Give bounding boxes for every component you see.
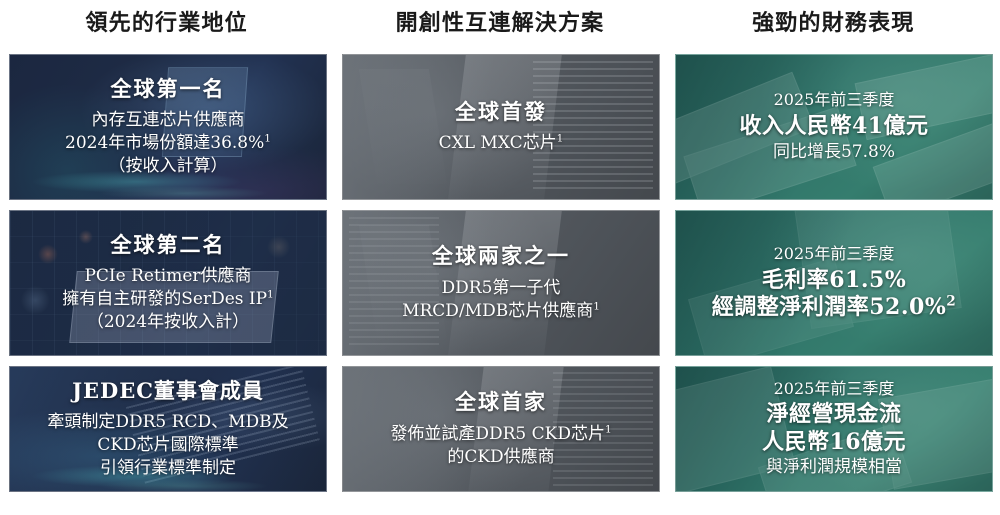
card-subline-2: 擁有自主研發的SerDes IP1 [18, 288, 318, 311]
column-header-interconnect-solutions: 開創性互連解決方案 [333, 0, 666, 48]
footnote-marker: 1 [267, 289, 274, 301]
footnote-marker: 2 [946, 294, 956, 310]
card-subline-3: （按收入計算） [18, 155, 318, 178]
card-metric-text: 經調整淨利潤率52.0% [712, 294, 947, 320]
card-eyebrow: 2025年前三季度 [684, 244, 984, 265]
card-subline-2: CKD芯片國際標準 [18, 434, 318, 457]
card-one-of-two-worldwide: 全球兩家之一 DDR5第一子代 MRCD/MDB芯片供應商1 [342, 210, 660, 356]
card-margins: 2025年前三季度 毛利率61.5% 經調整淨利潤率52.0%2 [675, 210, 993, 356]
card-subline-2: 的CKD供應商 [351, 446, 651, 469]
card-jedec-board-member: JEDEC董事會成員 牽頭制定DDR5 RCD、MDB及 CKD芯片國際標準 引… [9, 366, 327, 492]
card-global-no1: 全球第一名 內存互連芯片供應商 2024年市場份額達36.8%1 （按收入計算） [9, 54, 327, 200]
card-subline-1: PCIe Retimer供應商 [18, 265, 318, 288]
highlights-board: 領先的行業地位 開創性互連解決方案 強勁的財務表現 全球第一名 內存互連芯片供應… [0, 0, 1000, 515]
card-subline-1-text: CXL MXC芯片 [439, 133, 557, 153]
card-subline-1-text: 發佈並試產DDR5 CKD芯片 [390, 424, 605, 444]
card-headline: JEDEC董事會成員 [18, 378, 318, 404]
card-metric-gross-margin: 毛利率61.5% [684, 267, 984, 295]
footnote-marker: 1 [605, 423, 612, 435]
card-world-first-launch: 全球首發 CXL MXC芯片1 [342, 54, 660, 200]
card-subline-1: 牽頭制定DDR5 RCD、MDB及 [18, 411, 318, 434]
card-world-first-company: 全球首家 發佈並試產DDR5 CKD芯片1 的CKD供應商 [342, 366, 660, 492]
card-headline: 全球第一名 [18, 76, 318, 102]
card-metric: 收入人民幣41億元 [684, 113, 984, 141]
card-subline-1: DDR5第一子代 [351, 277, 651, 300]
card-subline-2-text: 擁有自主研發的SerDes IP [62, 289, 267, 309]
column-header-financial-performance: 強勁的財務表現 [667, 0, 1000, 48]
card-subline-2-text: MRCD/MDB芯片供應商 [402, 301, 593, 321]
card-metric-adjusted-net-margin: 經調整淨利潤率52.0%2 [684, 294, 984, 322]
card-eyebrow: 2025年前三季度 [684, 90, 984, 111]
card-headline: 全球首家 [351, 389, 651, 415]
card-revenue: 2025年前三季度 收入人民幣41億元 同比增長57.8% [675, 54, 993, 200]
card-headline: 全球第二名 [18, 232, 318, 258]
column-header-label: 強勁的財務表現 [752, 13, 914, 35]
column-headers: 領先的行業地位 開創性互連解決方案 強勁的財務表現 [0, 0, 1000, 48]
card-metric-value: 人民幣16億元 [684, 429, 984, 457]
column-header-industry-position: 領先的行業地位 [0, 0, 333, 48]
footnote-marker: 1 [264, 133, 271, 145]
card-subline-1: CXL MXC芯片1 [351, 132, 651, 155]
card-headline: 全球首發 [351, 99, 651, 125]
card-subline-2: MRCD/MDB芯片供應商1 [351, 300, 651, 323]
card-metric-label: 淨經營現金流 [684, 401, 984, 429]
footnote-marker: 1 [593, 300, 600, 312]
card-subline-3: （2024年按收入計） [18, 311, 318, 334]
highlight-card-grid: 全球第一名 內存互連芯片供應商 2024年市場份額達36.8%1 （按收入計算）… [9, 54, 993, 492]
card-footnote: 同比增長57.8% [684, 141, 984, 164]
card-subline-2-text: 2024年市場份額達36.8% [65, 133, 264, 153]
card-eyebrow: 2025年前三季度 [684, 379, 984, 400]
card-footnote: 與淨利潤規模相當 [684, 456, 984, 479]
card-subline-3: 引領行業標準制定 [18, 457, 318, 480]
card-operating-cash-flow: 2025年前三季度 淨經營現金流 人民幣16億元 與淨利潤規模相當 [675, 366, 993, 492]
column-header-label: 領先的行業地位 [85, 13, 247, 35]
column-header-label: 開創性互連解決方案 [396, 13, 605, 35]
card-subline-2: 2024年市場份額達36.8%1 [18, 132, 318, 155]
card-subline-1: 發佈並試產DDR5 CKD芯片1 [351, 423, 651, 446]
card-subline-1: 內存互連芯片供應商 [18, 109, 318, 132]
card-headline: 全球兩家之一 [351, 243, 651, 269]
footnote-marker: 1 [557, 133, 564, 145]
card-global-no2: 全球第二名 PCIe Retimer供應商 擁有自主研發的SerDes IP1 … [9, 210, 327, 356]
